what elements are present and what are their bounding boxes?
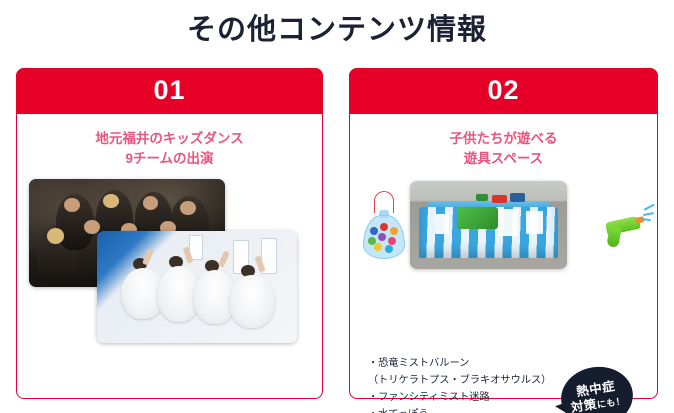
badge-line2-main: 対策 bbox=[570, 397, 598, 413]
card-header-02: 02 bbox=[349, 68, 658, 114]
card-subtitle-02-line1: 子供たちが遊べる bbox=[350, 129, 657, 149]
photo-playground bbox=[410, 181, 567, 269]
slide-root: その他コンテンツ情報 01 地元福井のキッズダンス 9チームの出演 bbox=[0, 0, 674, 413]
ball-bag-icon bbox=[362, 191, 406, 263]
water-gun-icon bbox=[604, 197, 656, 255]
card-header-01: 01 bbox=[16, 68, 323, 114]
badge-text: 熱中症 対策にも！ bbox=[557, 362, 637, 413]
card-body-02: ・恐竜ミストバルーン （トリケラトプス・ブラキオサウルス） ・ファンシティミスト… bbox=[350, 177, 657, 398]
photo-dance-white bbox=[97, 231, 297, 343]
badge-line2-small: にも！ bbox=[596, 395, 626, 409]
card-number-02: 02 bbox=[487, 77, 519, 104]
card-subtitle-01-line1: 地元福井のキッズダンス bbox=[17, 129, 322, 149]
heat-measure-badge: 熱中症 対策にも！ bbox=[561, 367, 633, 413]
card-subtitle-02: 子供たちが遊べる 遊具スペース bbox=[350, 129, 657, 169]
card-subtitle-02-line2: 遊具スペース bbox=[350, 149, 657, 169]
page-title: その他コンテンツ情報 bbox=[0, 10, 674, 50]
content-card-02: 02 子供たちが遊べる 遊具スペース bbox=[349, 68, 658, 399]
card-subtitle-01-line2: 9チームの出演 bbox=[17, 149, 322, 169]
card-body-01 bbox=[17, 177, 322, 398]
content-card-01: 01 地元福井のキッズダンス 9チームの出演 bbox=[16, 68, 323, 399]
card-number-01: 01 bbox=[153, 77, 185, 104]
card-subtitle-01: 地元福井のキッズダンス 9チームの出演 bbox=[17, 129, 322, 169]
